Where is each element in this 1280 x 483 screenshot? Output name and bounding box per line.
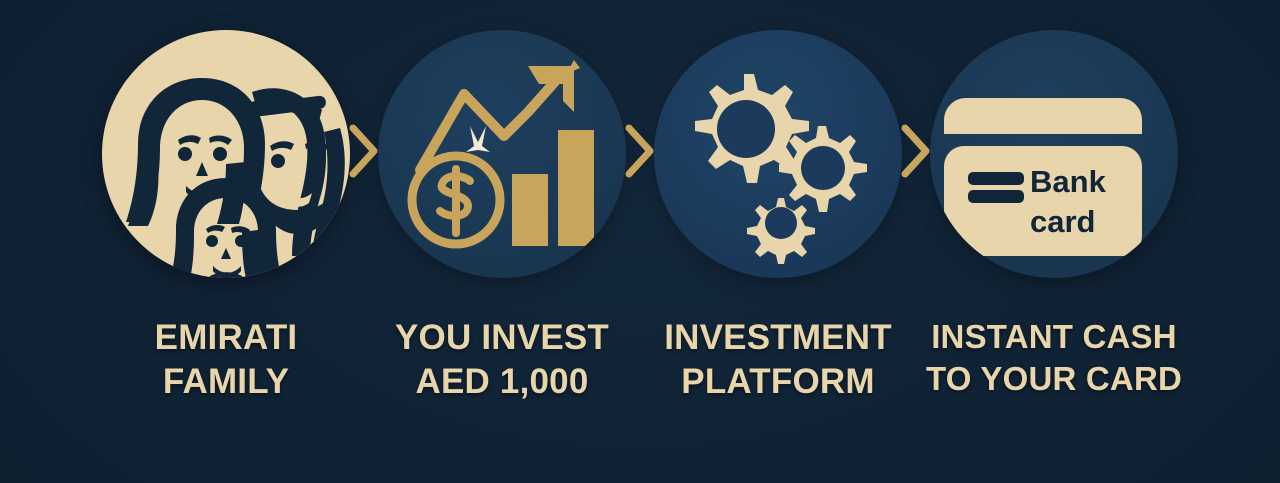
chevron-right-icon-2 bbox=[622, 124, 656, 178]
investment-growth-icon bbox=[378, 30, 626, 278]
step-you-invest: YOU INVEST AED 1,000 bbox=[364, 0, 640, 405]
investment-flow-infographic: EMIRATI FAMILY bbox=[0, 0, 1280, 483]
step-label-instant-cash: INSTANT CASH TO YOUR CARD bbox=[916, 316, 1192, 400]
bank-card-text-line1: Bank bbox=[1030, 164, 1107, 199]
emirati-family-icon bbox=[102, 30, 350, 278]
step-investment-platform: INVESTMENT PLATFORM bbox=[640, 0, 916, 405]
step-label-investment-platform: INVESTMENT PLATFORM bbox=[640, 316, 916, 405]
chevron-right-icon-3 bbox=[898, 124, 932, 178]
step-emirati-family: EMIRATI FAMILY bbox=[88, 0, 364, 405]
step-label-emirati-family: EMIRATI FAMILY bbox=[88, 316, 364, 405]
bank-card-icon: Bank card bbox=[930, 30, 1178, 278]
step-instant-cash: Bank card INSTANT CASH TO YOUR CARD bbox=[916, 0, 1192, 400]
step-label-you-invest: YOU INVEST AED 1,000 bbox=[364, 316, 640, 405]
chevron-right-icon-1 bbox=[346, 124, 380, 178]
gears-platform-icon bbox=[654, 30, 902, 278]
steps-row: EMIRATI FAMILY bbox=[0, 0, 1280, 483]
bank-card-text-line2: card bbox=[1030, 204, 1095, 239]
